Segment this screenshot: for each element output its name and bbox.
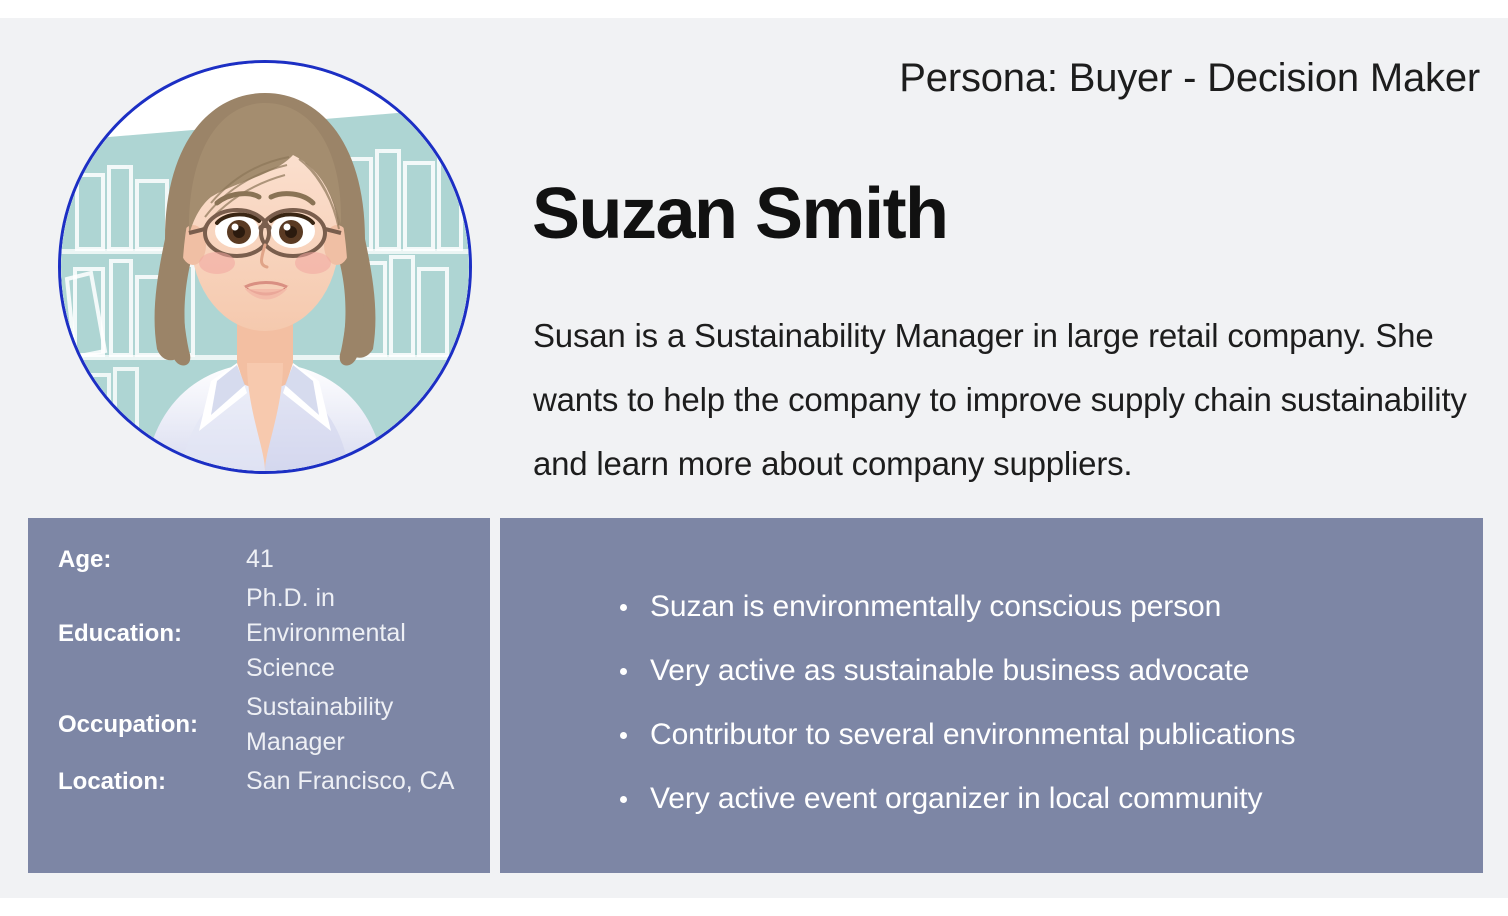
persona-description: Susan is a Sustainability Manager in lar… bbox=[533, 304, 1483, 496]
attribute-value-age: 41 bbox=[246, 540, 490, 579]
traits-list: Suzan is environmentally conscious perso… bbox=[612, 590, 1295, 816]
persona-type-header: Persona: Buyer - Decision Maker bbox=[899, 56, 1480, 101]
list-item: Very active event organizer in local com… bbox=[612, 782, 1295, 816]
attribute-value-education: Ph.D. in Environmental Science bbox=[246, 579, 490, 688]
attribute-label-location: Location: bbox=[28, 762, 246, 801]
attribute-row-age: Age: 41 bbox=[28, 540, 490, 579]
attribute-row-location: Location: San Francisco, CA bbox=[28, 762, 490, 801]
attributes-table: Age: 41 Education: Ph.D. in Environmenta… bbox=[28, 540, 490, 801]
persona-card: Persona: Buyer - Decision Maker Suzan Sm… bbox=[0, 18, 1508, 898]
attribute-row-education: Education: Ph.D. in Environmental Scienc… bbox=[28, 579, 490, 688]
attributes-panel: Age: 41 Education: Ph.D. in Environmenta… bbox=[28, 518, 490, 873]
attribute-value-location: San Francisco, CA bbox=[246, 762, 490, 801]
attribute-label-education: Education: bbox=[28, 579, 246, 688]
avatar-circle bbox=[58, 60, 472, 474]
list-item: Contributor to several environmental pub… bbox=[612, 718, 1295, 752]
attribute-row-occupation: Occupation: Sustainability Manager bbox=[28, 688, 490, 762]
persona-name: Suzan Smith bbox=[532, 178, 948, 250]
persona-top-section: Persona: Buyer - Decision Maker Suzan Sm… bbox=[0, 18, 1508, 504]
persona-detail-panels: Age: 41 Education: Ph.D. in Environmenta… bbox=[0, 518, 1508, 898]
attribute-label-occupation: Occupation: bbox=[28, 688, 246, 762]
attribute-value-occupation: Sustainability Manager bbox=[246, 688, 490, 762]
attribute-label-age: Age: bbox=[28, 540, 246, 579]
avatar bbox=[58, 60, 472, 474]
traits-panel: Suzan is environmentally conscious perso… bbox=[500, 518, 1483, 873]
list-item: Very active as sustainable business advo… bbox=[612, 654, 1295, 688]
list-item: Suzan is environmentally conscious perso… bbox=[612, 590, 1295, 624]
woman-with-glasses-avatar-icon bbox=[61, 63, 469, 471]
